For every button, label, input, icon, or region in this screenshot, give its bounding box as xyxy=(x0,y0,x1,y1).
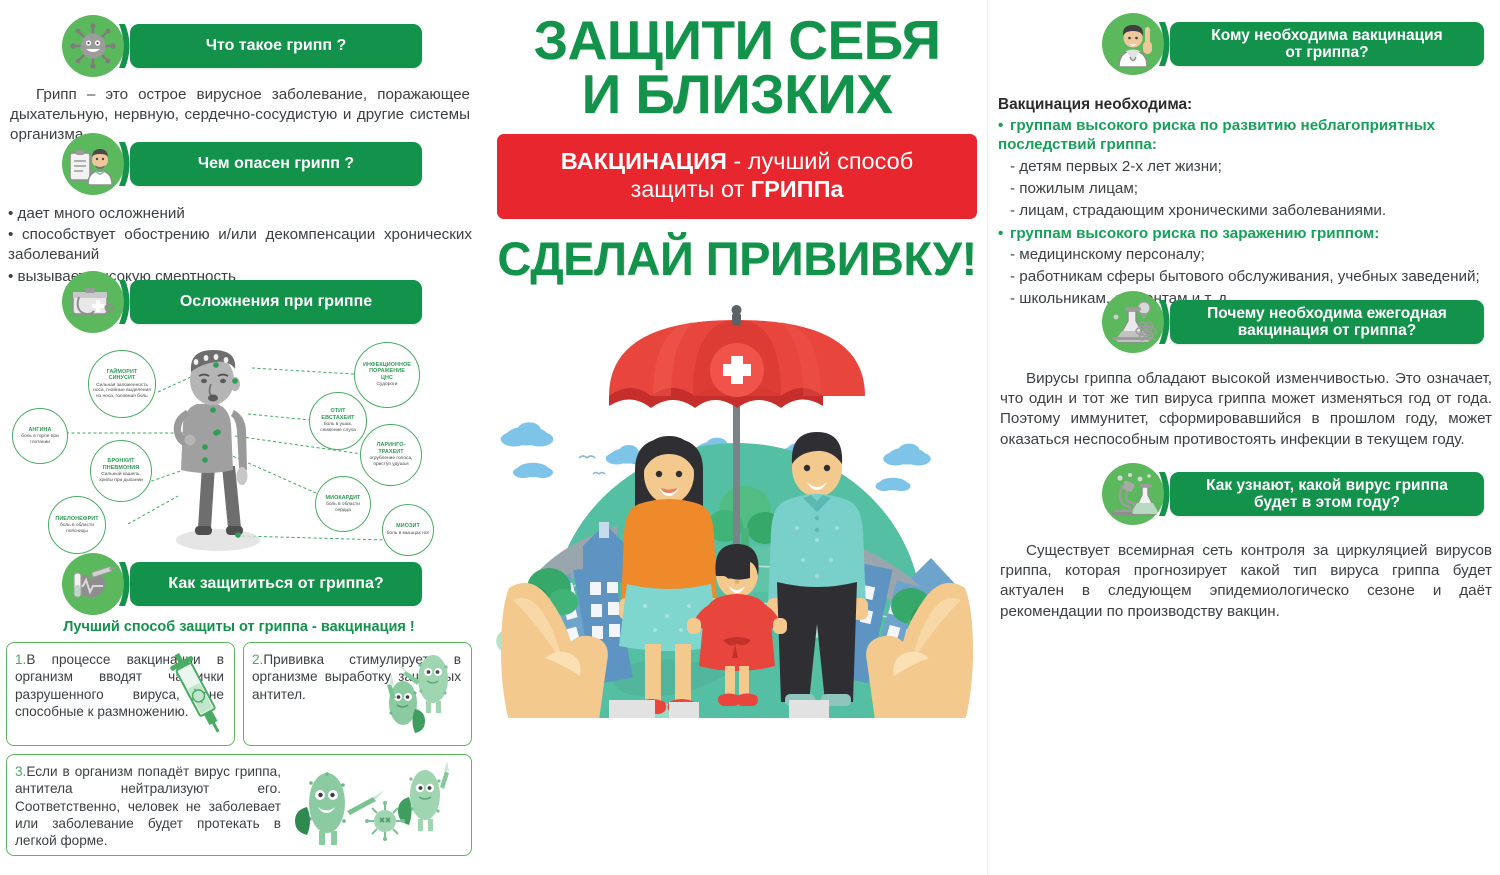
person-figure xyxy=(174,350,260,551)
complications-diagram: ГАЙМОРИТСИНУСИТ Сильная заложенность нос… xyxy=(6,336,476,576)
center-column: ЗАЩИТИ СЕБЯ И БЛИЗКИХ ВАКЦИНАЦИЯ - лучши… xyxy=(487,0,987,875)
bubble-title: ЛАРИНГО-ТРАХЕИТ xyxy=(377,442,406,455)
vaccination-rest: - лучший способ xyxy=(727,148,913,174)
complication-bubble-myositis: МИОЗИТ боль в мышцах ног xyxy=(382,504,434,556)
red-banner-line-2: защиты от ГРИППа xyxy=(505,175,969,204)
bubble-title: АНГИНА xyxy=(28,427,51,433)
step-number: 1. xyxy=(15,652,26,667)
step-text: Если в организм попадёт вирус гриппа, ан… xyxy=(15,764,281,848)
risk-group-1-item: - лицам, страдающим хроническими заболев… xyxy=(1010,201,1496,221)
bubble-sub: боль в области поясницы xyxy=(52,523,102,534)
doctor-clipboard-icon xyxy=(62,133,124,195)
antibodies-fighting-virus-icon xyxy=(285,757,465,853)
medical-kit-icon xyxy=(62,271,124,333)
section-header-complications: Осложнения при гриппе xyxy=(112,280,422,324)
poster-root: Что такое грипп ? Грипп – это острое вир… xyxy=(0,0,1500,875)
bubble-title: МИОКАРДИТ xyxy=(326,495,361,501)
left-column: Что такое грипп ? Грипп – это острое вир… xyxy=(0,0,485,875)
right-column: Кому необходима вакцинация от гриппа? Ва… xyxy=(992,0,1500,875)
section-title-line-1: Почему необходима ежегодная xyxy=(1197,305,1457,322)
bubble-sub: Судороги xyxy=(377,382,398,388)
bubble-sub: боль в мышцах ног xyxy=(387,531,430,537)
vaccination-word: ВАКЦИНАЦИЯ xyxy=(561,148,727,174)
risk-group-1-item: - пожилым лицам; xyxy=(1010,179,1496,199)
step-card-3: 3.Если в организм попадёт вирус гриппа, … xyxy=(6,754,472,856)
bubble-title: ОТИТЕВСТАХЕИТ xyxy=(321,408,354,421)
section-header-how-determined: Как узнают, какой вирус гриппа будет в э… xyxy=(1152,472,1484,516)
complication-bubble-angina: АНГИНА боль в горле при глотании xyxy=(12,408,68,464)
risk-group-1-item: - детям первых 2-х лет жизни; xyxy=(1010,157,1496,177)
section-header-what-is-flu: Что такое грипп ? xyxy=(112,24,422,68)
section-header-flu-danger: Чем опасен грипп ? xyxy=(112,142,422,186)
poster-cta: СДЕЛАЙ ПРИВИВКУ! xyxy=(487,235,987,282)
column-divider xyxy=(987,0,988,875)
section-title-line-2: будет в этом году? xyxy=(1244,494,1410,511)
section-title: Осложнения при гриппе xyxy=(170,293,382,311)
risk-group-2-title: •группам высокого риска по заражению гри… xyxy=(998,224,1496,243)
vaccination-red-banner: ВАКЦИНАЦИЯ - лучший способ защиты от ГРИ… xyxy=(497,134,977,219)
bubble-title: ИНФЕКЦИОННОЕПОРАЖЕНИЕЦНС xyxy=(363,362,411,381)
complication-bubble-laryngotracheitis: ЛАРИНГО-ТРАХЕИТ огрубление голоса, прист… xyxy=(360,424,422,486)
virus-icon xyxy=(62,15,124,77)
steps-row: 1.В процессе вакцинации в организм вводя… xyxy=(6,642,472,746)
section-header-protection: Как защититься от гриппа? xyxy=(112,562,422,606)
red-banner-line-1: ВАКЦИНАЦИЯ - лучший способ xyxy=(505,147,969,176)
section-title: Как защититься от гриппа? xyxy=(158,575,393,593)
title-line-1: ЗАЩИТИ СЕБЯ xyxy=(487,14,987,68)
section-header-who-needs-vaccination: Кому необходима вакцинация от гриппа? xyxy=(1152,22,1484,66)
risk-group-1-title: •группам высокого риска по развитию небл… xyxy=(998,116,1496,155)
step-number: 3. xyxy=(15,764,26,779)
bullet-item: • способствует обострению и/или декомпен… xyxy=(8,225,472,265)
bubble-sub: Сильный кашель, хрипы при дыхании xyxy=(94,472,148,483)
complication-bubble-cns: ИНФЕКЦИОННОЕПОРАЖЕНИЕЦНС Судороги xyxy=(354,342,420,408)
bubble-sub: огрубление голоса, приступ удушья xyxy=(364,456,418,467)
bullet-item: • дает много осложнений xyxy=(8,204,472,224)
how-determined-text: Существует всемирная сеть контроля за ци… xyxy=(1000,541,1492,622)
protect-from: защиты от xyxy=(630,176,750,202)
step-text: В процессе вакцинации в организм вводят … xyxy=(15,652,224,719)
bubble-sub: боль в области сердца xyxy=(319,502,367,513)
vaccination-needed-label: Вакцинация необходима: xyxy=(998,96,1496,114)
protection-subtitle: Лучший способ защиты от гриппа - вакцина… xyxy=(6,619,472,635)
section-title-line-1: Как узнают, какой вирус гриппа xyxy=(1196,477,1458,494)
bubble-title: МИОЗИТ xyxy=(396,523,420,529)
step-text: Прививка стимулирует в организме выработ… xyxy=(252,652,461,702)
section-title: Что такое грипп ? xyxy=(196,37,357,55)
bubble-sub: Сильная заложенность носа, гнойные выдел… xyxy=(92,383,152,400)
section-header-why-annual: Почему необходима ежегодная вакцинация о… xyxy=(1152,300,1484,344)
bubble-title: БРОНХИТПНЕВМОНИЯ xyxy=(103,458,139,471)
doctor-pointing-icon xyxy=(1102,13,1164,75)
title-line-2: И БЛИЗКИХ xyxy=(487,68,987,122)
complication-bubble-pyelonephritis: ПИЕЛОНЕФРИТ боль в области поясницы xyxy=(48,496,106,554)
complication-bubble-sinusitis: ГАЙМОРИТСИНУСИТ Сильная заложенность нос… xyxy=(88,350,156,418)
family-umbrella-illustration xyxy=(487,288,987,718)
complication-bubble-otitis: ОТИТЕВСТАХЕИТ боль в ушах, снижение слух… xyxy=(309,392,367,450)
bubble-title: ПИЕЛОНЕФРИТ xyxy=(55,516,98,522)
risk-group-2-item: - работникам сферы бытового обслуживания… xyxy=(1010,267,1496,287)
bubble-sub: боль в горле при глотании xyxy=(16,434,64,445)
complication-bubble-bronchitis: БРОНХИТПНЕВМОНИЯ Сильный кашель, хрипы п… xyxy=(90,440,152,502)
bubble-title: ГАЙМОРИТСИНУСИТ xyxy=(107,369,138,382)
section-title-line-2: вакцинация от гриппа? xyxy=(1228,322,1426,339)
bubble-sub: боль в ушах, снижение слуха xyxy=(313,422,363,433)
flu-word: ГРИППа xyxy=(751,176,844,202)
heartbeat-lab-icon xyxy=(62,553,124,615)
risk-group-2-item: - медицинскому персоналу; xyxy=(1010,245,1496,265)
step-card-2: 2.Прививка стимулирует в организме выраб… xyxy=(243,642,472,746)
science-atom-icon xyxy=(1102,291,1164,353)
section-title-line-1: Кому необходима вакцинация xyxy=(1201,27,1452,44)
bullet-dot-icon: • xyxy=(998,116,1010,135)
section-title: Чем опасен грипп ? xyxy=(188,155,364,173)
poster-main-title: ЗАЩИТИ СЕБЯ И БЛИЗКИХ xyxy=(487,14,987,122)
complication-bubble-myocarditis: МИОКАРДИТ боль в области сердца xyxy=(315,476,371,532)
step-card-1: 1.В процессе вакцинации в организм вводя… xyxy=(6,642,235,746)
section-title-line-2: от гриппа? xyxy=(1275,44,1378,61)
bullet-dot-icon: • xyxy=(998,224,1010,243)
step-number: 2. xyxy=(252,652,263,667)
why-annual-text: Вирусы гриппа обладают высокой изменчиво… xyxy=(1000,369,1492,450)
microscope-flask-icon xyxy=(1102,463,1164,525)
